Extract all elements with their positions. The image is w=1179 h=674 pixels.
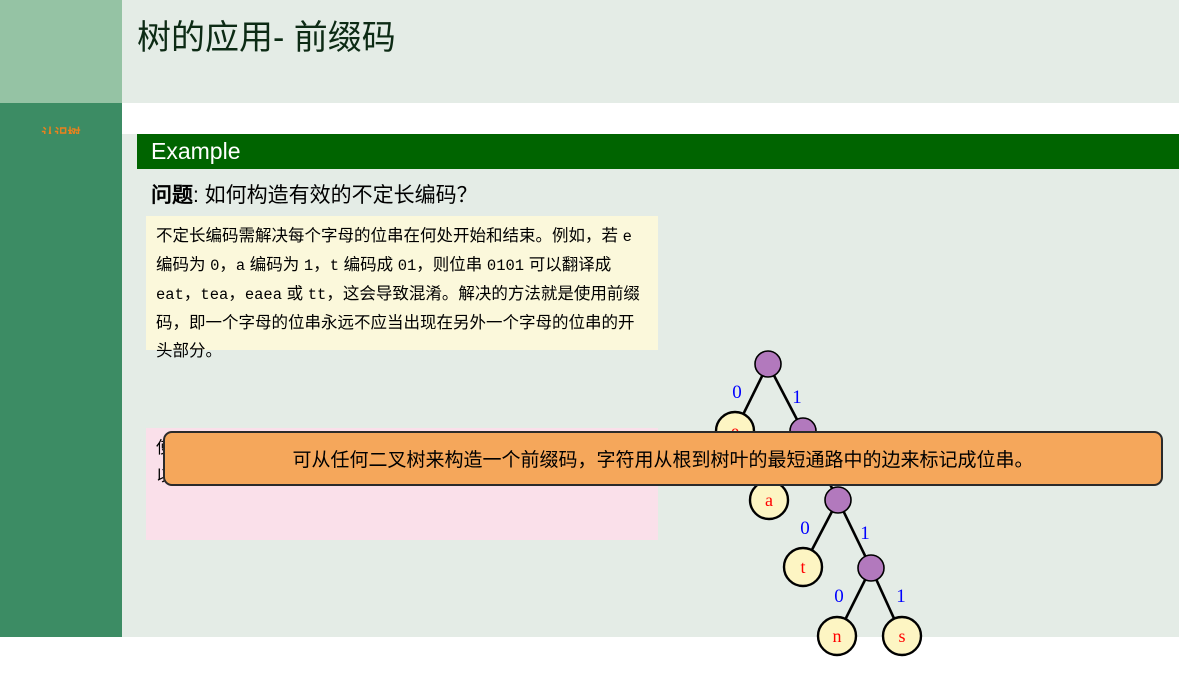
tree-edge bbox=[812, 512, 832, 551]
callout-text: 可从任何二叉树来构造一个前缀码，字符用从根到树叶的最短通路中的边来标记成位串。 bbox=[292, 445, 1033, 472]
title-band-sidebar-strip bbox=[0, 0, 122, 103]
tree-edge bbox=[876, 580, 894, 619]
note-segment: 编码为 bbox=[245, 256, 304, 274]
tree-internal-node bbox=[825, 487, 851, 513]
callout-box: 可从任何二叉树来构造一个前缀码，字符用从根到树叶的最短通路中的边来标记成位串。 bbox=[163, 431, 1163, 486]
tree-edge bbox=[743, 376, 762, 414]
tree-leaf-label: n bbox=[833, 626, 842, 646]
note-segment: 01 bbox=[398, 257, 417, 275]
note-segment: eat bbox=[156, 286, 184, 304]
tree-edge-label: 0 bbox=[800, 518, 810, 539]
note-segment: ， bbox=[313, 256, 330, 274]
note-segment: 编码成 bbox=[339, 256, 398, 274]
tree-edge-label: 1 bbox=[860, 523, 870, 544]
example-block: Example 问题: 如何构造有效的不定长编码？ 不定长编码需解决每个字母的位… bbox=[0, 134, 1179, 637]
note-segment: eaea bbox=[245, 286, 282, 304]
question-label: 问题 bbox=[151, 184, 193, 207]
note-segment: t bbox=[330, 257, 339, 275]
note-segment: a bbox=[236, 257, 245, 275]
note-segment: 编码为 bbox=[156, 256, 210, 274]
note-segment: 0 bbox=[210, 257, 219, 275]
note-segment: ， bbox=[184, 285, 201, 303]
tree-edge bbox=[845, 580, 865, 619]
note-segment: ， bbox=[228, 285, 245, 303]
note-segment: 可以翻译成 bbox=[524, 256, 611, 274]
tree-leaf-label: t bbox=[800, 557, 805, 577]
tree-leaf-label: s bbox=[898, 626, 905, 646]
example-header-bar: Example bbox=[137, 134, 1179, 169]
tree-leaf-label: a bbox=[765, 490, 773, 510]
note-segment: 或 bbox=[282, 285, 308, 303]
note-segment: 不定长编码需解决每个字母的位串在何处开始和结束。例如，若 bbox=[156, 227, 623, 245]
note-segment: tt bbox=[308, 286, 327, 304]
note-segment: tea bbox=[200, 286, 228, 304]
prefix-code-explanation-note: 不定长编码需解决每个字母的位串在何处开始和结束。例如，若 e 编码为 0，a 编… bbox=[146, 216, 658, 350]
tree-edge-label: 1 bbox=[792, 387, 802, 408]
example-header-label: Example bbox=[151, 138, 240, 165]
question-line: 问题: 如何构造有效的不定长编码？ bbox=[151, 179, 478, 209]
note-segment: ，则位串 bbox=[416, 256, 487, 274]
question-text: : 如何构造有效的不定长编码？ bbox=[193, 184, 478, 207]
tree-edge-label: 0 bbox=[834, 586, 844, 607]
title-band: 树的应用- 前缀码 bbox=[0, 0, 1179, 103]
tree-edge-label: 1 bbox=[896, 586, 906, 607]
note-segment: 1 bbox=[304, 257, 313, 275]
tree-internal-node bbox=[755, 351, 781, 377]
example-block-sidebar-strip bbox=[0, 134, 122, 637]
note-segment: e bbox=[623, 228, 632, 246]
page-title: 树的应用- 前缀码 bbox=[137, 10, 396, 59]
note-segment: 0101 bbox=[487, 257, 524, 275]
tree-internal-node bbox=[858, 555, 884, 581]
note-segment: ， bbox=[219, 256, 236, 274]
tree-edge-label: 0 bbox=[732, 382, 742, 403]
